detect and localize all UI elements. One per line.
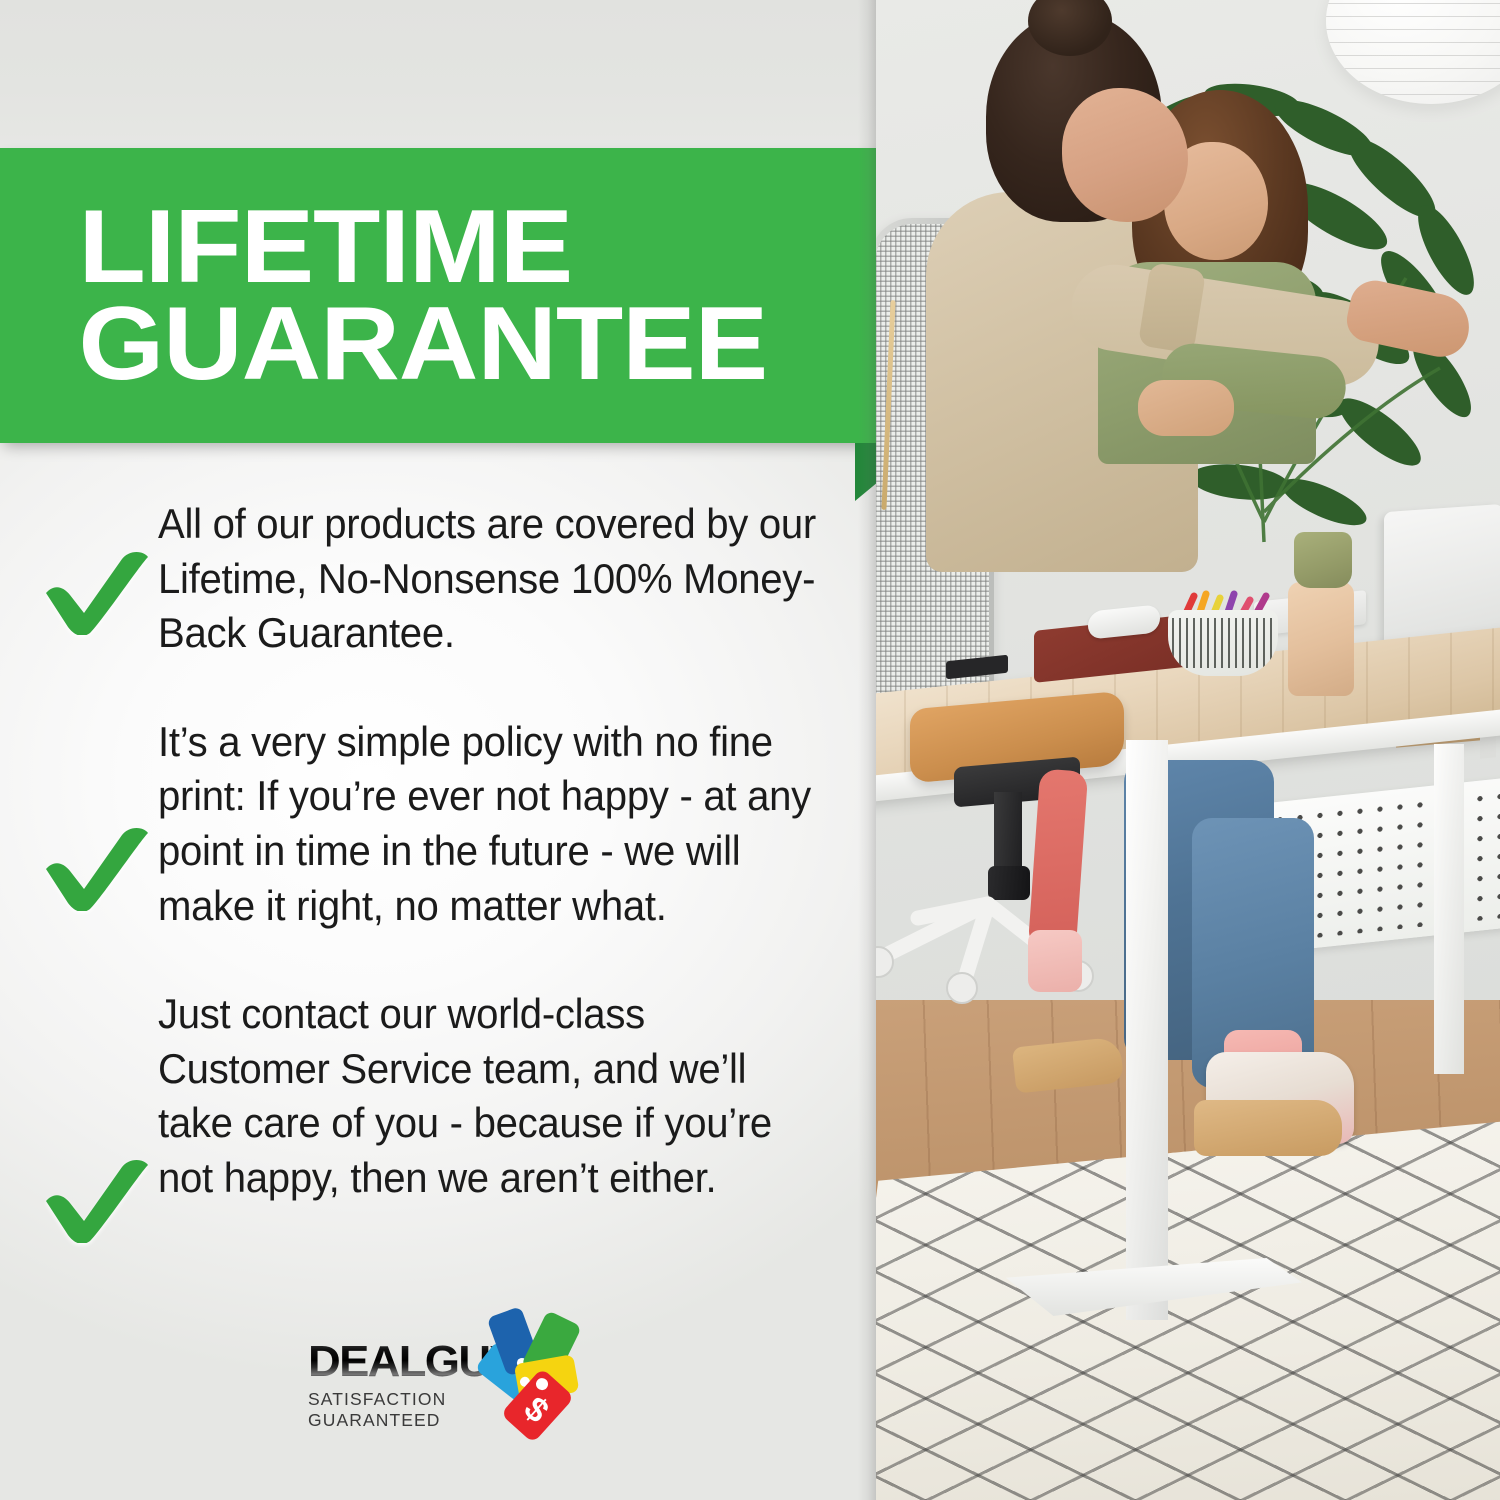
sandal bbox=[1194, 1100, 1342, 1156]
green-checkmark-icon bbox=[40, 1157, 152, 1243]
left-content-panel: LIFETIME GUARANTEE All of our products a… bbox=[0, 0, 876, 1500]
brand-logo: DEALGUYS SATISFACTION GUARANTEED bbox=[300, 1298, 600, 1448]
headline-banner-wrapper: LIFETIME GUARANTEE bbox=[0, 148, 876, 448]
desk-leg bbox=[1126, 740, 1168, 1320]
green-checkmark-icon bbox=[40, 825, 152, 911]
headline-banner: LIFETIME GUARANTEE bbox=[0, 148, 876, 443]
list-item: Just contact our world-class Customer Se… bbox=[0, 987, 876, 1205]
banner-ribbon-fold bbox=[855, 443, 876, 501]
price-tags-fan-icon: $ bbox=[472, 1298, 600, 1440]
vase bbox=[1288, 582, 1354, 696]
list-item-text: All of our products are covered by our L… bbox=[158, 497, 817, 661]
green-checkmark-icon bbox=[40, 549, 152, 635]
panel-top-strip bbox=[0, 0, 876, 148]
child-sock bbox=[1028, 930, 1082, 992]
page-title: LIFETIME GUARANTEE bbox=[0, 199, 876, 392]
list-item: It’s a very simple policy with no fine p… bbox=[0, 715, 876, 933]
poster-canvas: LIFETIME GUARANTEE All of our products a… bbox=[0, 0, 1500, 1500]
list-item-text: Just contact our world-class Customer Se… bbox=[158, 987, 817, 1205]
list-item: All of our products are covered by our L… bbox=[0, 497, 876, 661]
berber-rug bbox=[876, 1118, 1500, 1500]
pen-bowl bbox=[1168, 610, 1278, 676]
list-item-text: It’s a very simple policy with no fine p… bbox=[158, 715, 817, 933]
guarantee-bullet-list: All of our products are covered by our L… bbox=[0, 497, 876, 1260]
lifestyle-photo bbox=[876, 0, 1500, 1500]
headline-line-2: GUARANTEE bbox=[78, 296, 876, 393]
green-mug bbox=[1294, 532, 1352, 588]
headline-line-1: LIFETIME bbox=[78, 199, 876, 296]
desk-leg-rear bbox=[1434, 744, 1464, 1074]
child-hand bbox=[1138, 380, 1234, 436]
